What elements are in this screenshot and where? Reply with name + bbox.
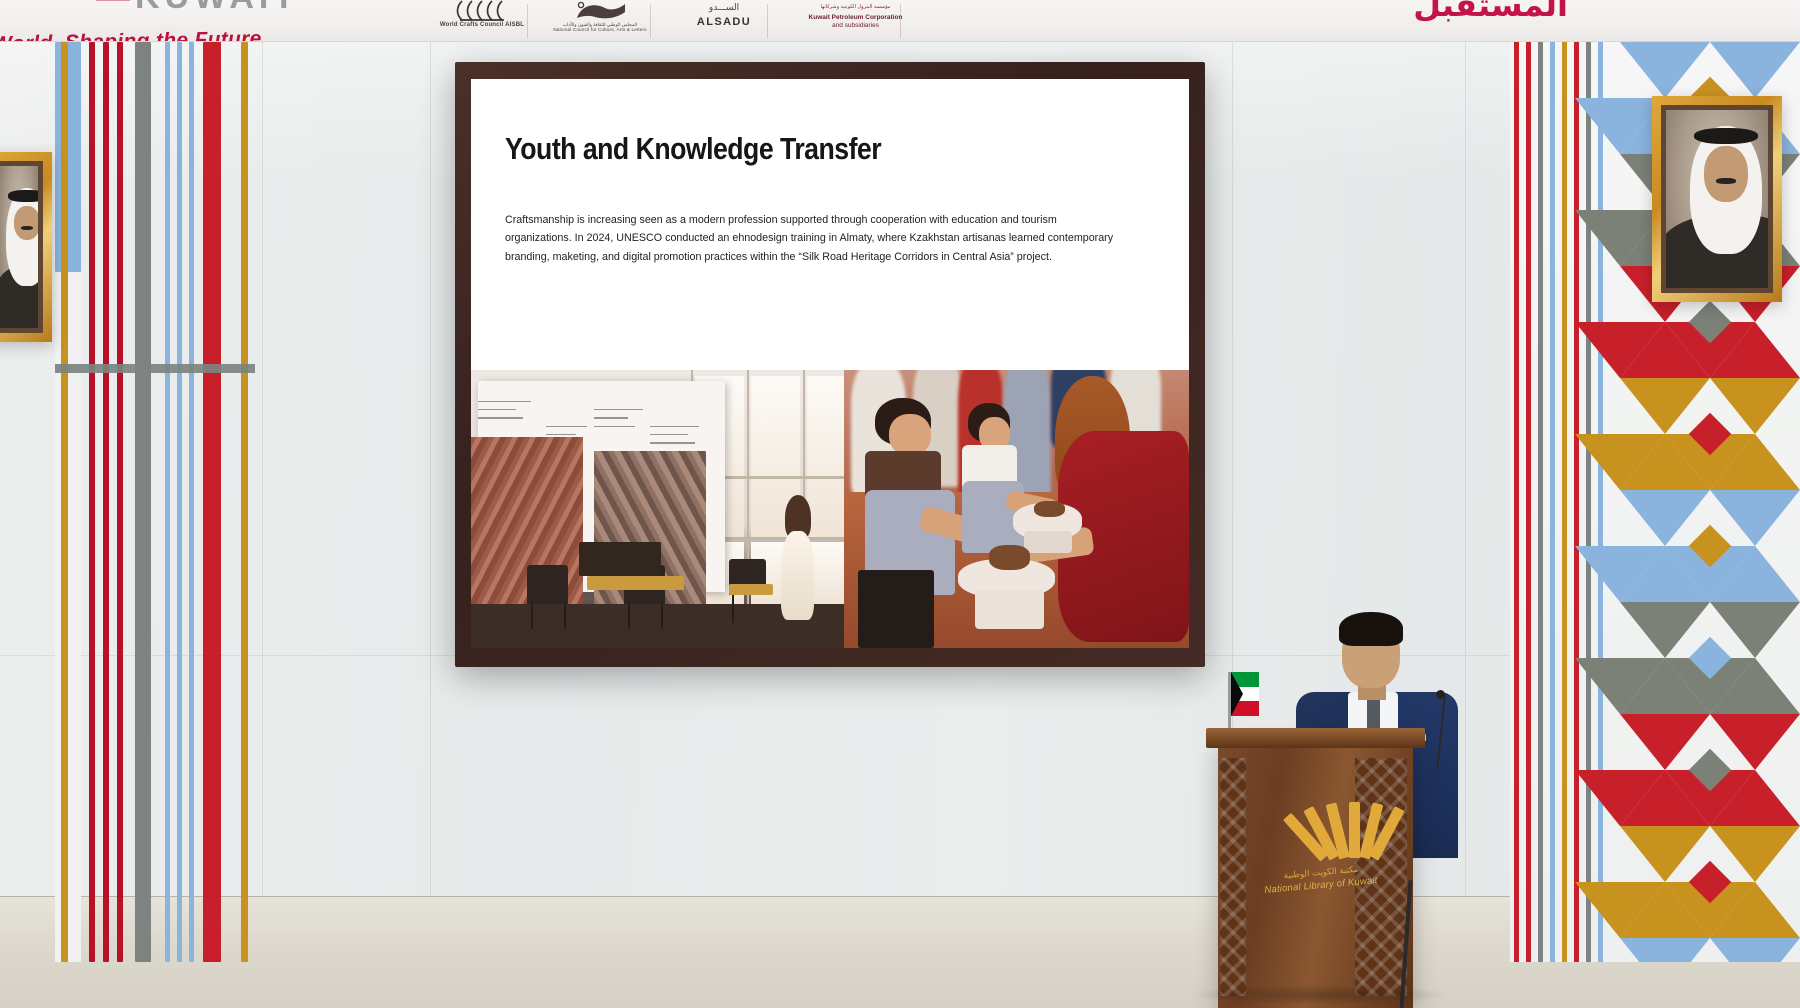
banner-dash: — [96, 0, 135, 16]
podium-shadow [1190, 985, 1450, 1005]
wall-seam [430, 0, 431, 1008]
sadu-triangle [1575, 434, 1665, 490]
nccal-symbol-icon [571, 0, 629, 22]
sadu-triangle [1575, 770, 1665, 826]
banner-arabic-text: المستقبل [1413, 0, 1568, 24]
event-banner: —KUWAIT World, Shaping the Future المستق… [0, 0, 1800, 42]
slide-photo-pottery-workshop [844, 370, 1189, 648]
slide-title: Youth and Knowledge Transfer [505, 131, 1093, 167]
banner-kuwait-wordmark: —KUWAIT [96, 0, 299, 17]
slide-photo-exhibition-hall [471, 370, 844, 648]
alsadu-arabic-mark-icon: الســـدو [709, 0, 739, 16]
kuwait-flag [1231, 672, 1259, 716]
kpc-arabic-mark-icon: مؤسسة البترول الكويتية وشركاتها [821, 0, 891, 14]
sadu-triangle [1575, 546, 1665, 602]
kpc-logo-subcaption: and subsidiaries [832, 22, 879, 30]
alsadu-logo-caption: ALSADU [697, 16, 751, 28]
slide-image-collage [471, 370, 1189, 648]
logo-divider [527, 4, 528, 38]
podium: مكتبة الكويت الوطنية National Library of… [1218, 740, 1413, 1008]
kuwait-petroleum-corporation-logo: مؤسسة البترول الكويتية وشركاتها Kuwait P… [793, 0, 918, 42]
podium-desktop [1206, 728, 1425, 748]
flag-hoist-triangle [1231, 672, 1243, 716]
logo-divider [650, 4, 651, 38]
national-library-of-kuwait-logo: مكتبة الكويت الوطنية National Library of… [1266, 794, 1376, 914]
portrait-right-canvas [1661, 105, 1773, 293]
kpc-logo-caption: Kuwait Petroleum Corporation [809, 14, 903, 22]
podium-lattice-left [1220, 758, 1246, 996]
alsadu-arabic-text: الســـدو [709, 4, 739, 13]
microphone-icon [1436, 690, 1445, 699]
alsadu-logo: الســـدو ALSADU [678, 0, 770, 42]
projection-screen: Youth and Knowledge Transfer Craftsmansh… [471, 79, 1189, 648]
slide-body-text: Craftsmanship is increasing seen as a mo… [505, 211, 1116, 266]
wcc-loops-icon [454, 0, 510, 22]
sadu-triangle [1575, 322, 1665, 378]
presentation-slide: Youth and Knowledge Transfer Craftsmansh… [471, 79, 1189, 648]
sadu-triangle [1620, 938, 1710, 962]
left-decorative-stripes [55, 42, 255, 962]
nccal-logo-caption: National Council for Culture, Arts & Let… [553, 27, 646, 32]
wall-seam [262, 0, 263, 1008]
wcc-logo-caption: World Crafts Council AISBL [440, 22, 524, 29]
library-logo-english: National Library of Kuwait [1264, 875, 1378, 896]
sadu-triangle [1575, 658, 1665, 714]
sadu-triangle [1575, 882, 1665, 938]
screenshot-root: —KUWAIT World, Shaping the Future المستق… [0, 0, 1800, 1008]
kpc-arabic-text: مؤسسة البترول الكويتية وشركاتها [821, 4, 891, 10]
portrait-left [0, 152, 52, 342]
banner-kuwait-text: KUWAIT [135, 0, 299, 16]
portrait-left-canvas [0, 161, 43, 333]
portrait-right [1652, 96, 1782, 302]
projection-screen-frame: Youth and Knowledge Transfer Craftsmansh… [455, 62, 1205, 667]
banner-tagline: World, Shaping the Future [0, 27, 262, 42]
sadu-triangle [1710, 938, 1800, 962]
national-council-culture-arts-letters-logo: المجلس الوطني للثقافة والفنون والآداب Na… [553, 0, 647, 42]
world-crafts-council-logo: World Crafts Council AISBL [437, 0, 527, 42]
left-stripe-crossbar [55, 364, 255, 373]
